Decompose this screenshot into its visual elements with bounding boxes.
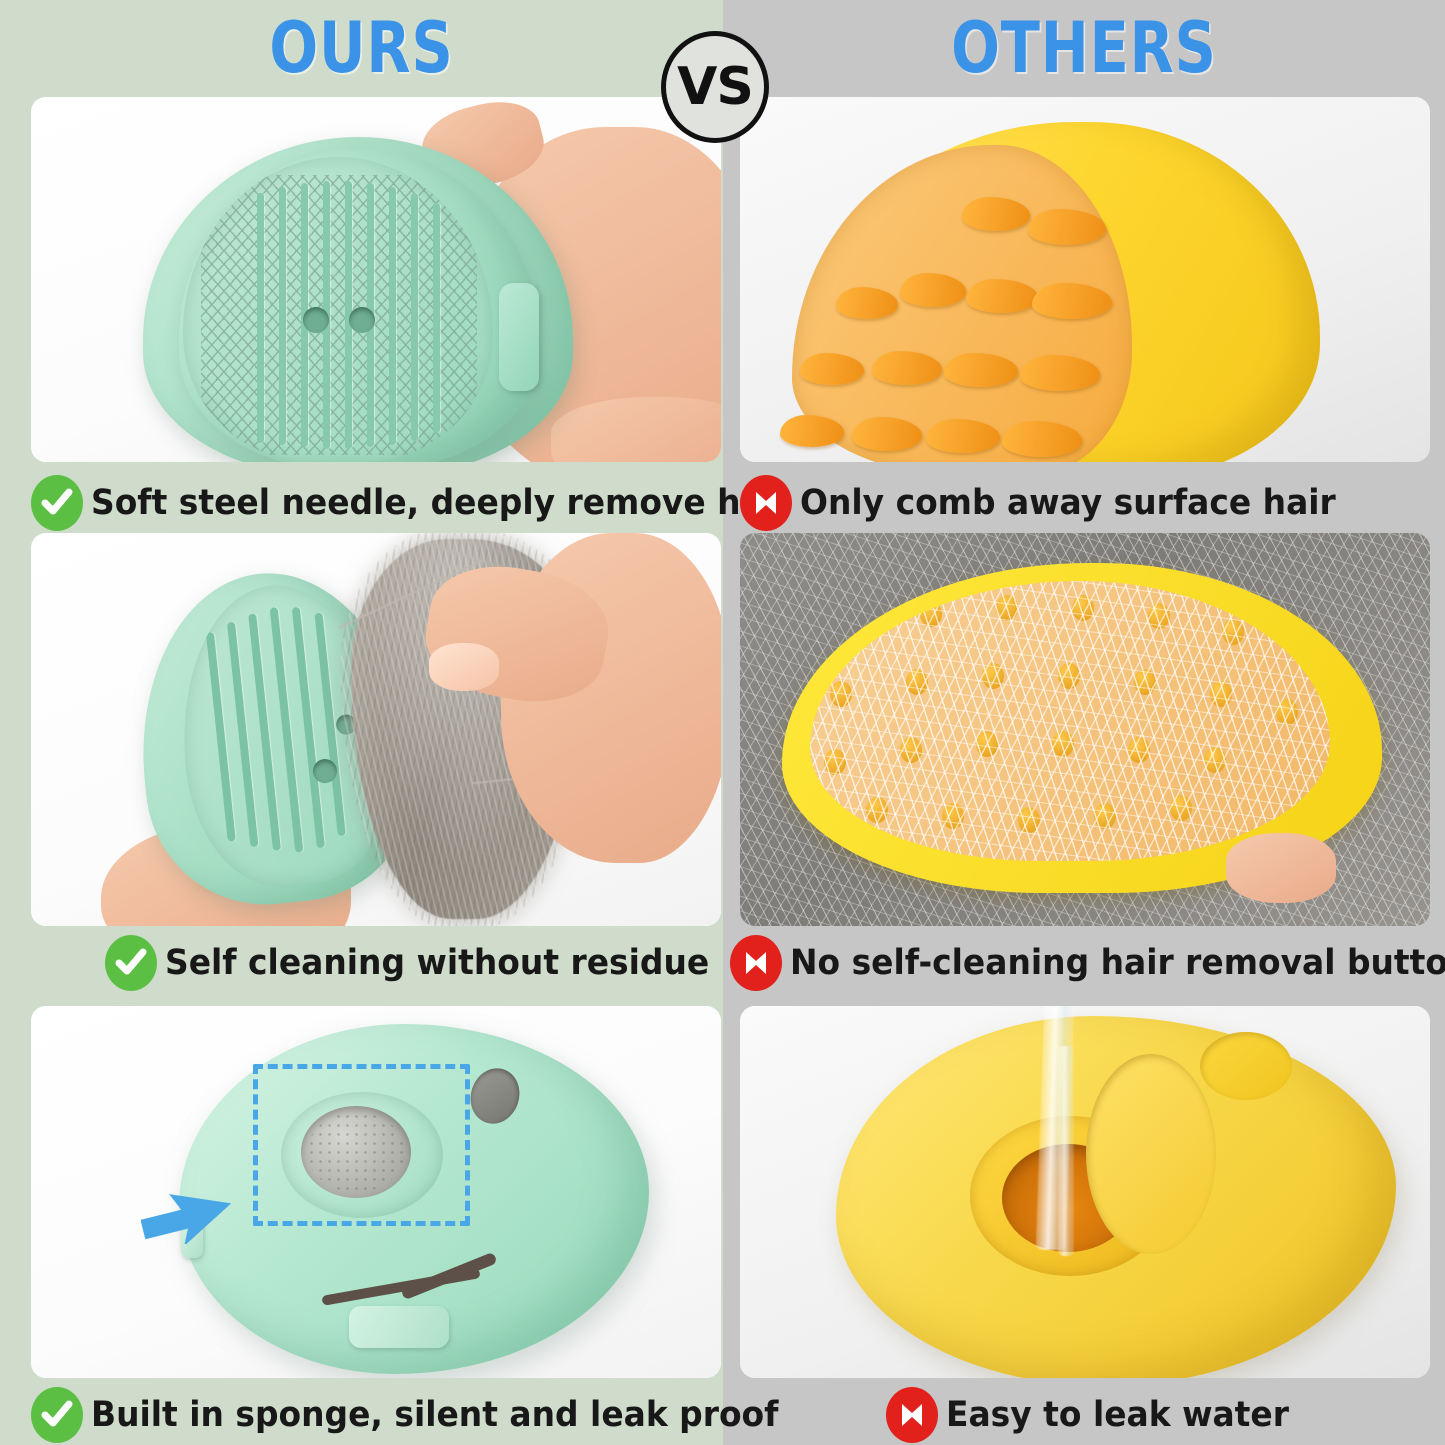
cross-icon xyxy=(740,475,792,531)
vs-badge: VS xyxy=(661,31,769,143)
caption-text: Soft steel needle, deeply remove hair xyxy=(91,483,790,523)
pad-inner-surface xyxy=(810,581,1330,861)
finger xyxy=(1226,833,1336,903)
side-button xyxy=(499,283,539,391)
fingernail xyxy=(429,643,499,691)
caption-text: Built in sponge, silent and leak proof xyxy=(91,1395,778,1435)
check-icon xyxy=(31,1387,83,1443)
others-caption-1: Only comb away surface hair xyxy=(740,474,1445,532)
needle-plate xyxy=(183,157,493,462)
pin-column xyxy=(389,187,396,445)
check-icon xyxy=(105,935,157,991)
ours-image-1 xyxy=(31,97,721,462)
secondary-cap xyxy=(1200,1032,1292,1100)
scene-hairy-pad xyxy=(740,533,1430,926)
latch xyxy=(349,1306,449,1348)
pin-column xyxy=(411,193,418,441)
scene-leak-water xyxy=(740,1006,1430,1378)
ours-image-2 xyxy=(31,533,721,926)
others-header: OTHERS xyxy=(788,8,1380,88)
cross-icon xyxy=(886,1387,938,1443)
others-caption-3: Easy to leak water xyxy=(740,1386,1445,1444)
caption-text: Easy to leak water xyxy=(946,1395,1289,1435)
pin-column xyxy=(257,193,264,443)
others-image-2 xyxy=(740,533,1430,926)
pin-column xyxy=(433,203,440,433)
scene-self-cleaning xyxy=(31,533,721,926)
water-stream xyxy=(1058,1046,1074,1256)
scene-mint-brush xyxy=(31,97,721,462)
ours-image-3 xyxy=(31,1006,721,1378)
scene-yellow-comb xyxy=(740,97,1430,462)
vent-hole xyxy=(303,307,329,333)
ours-caption-1: Soft steel needle, deeply remove hair xyxy=(31,474,731,532)
silicone-cap xyxy=(1086,1054,1216,1254)
ours-header: OURS xyxy=(65,8,658,88)
caption-text: No self-cleaning hair removal button xyxy=(790,943,1445,983)
cross-icon xyxy=(730,935,782,991)
vent-hole xyxy=(349,307,375,333)
ours-caption-2: Self cleaning without residue xyxy=(31,934,805,992)
pin-column xyxy=(279,187,286,445)
scene-built-in-sponge xyxy=(31,1006,721,1378)
pointer-arrow-icon xyxy=(141,1188,237,1244)
comparison-infographic: OURS OTHERS VS xyxy=(0,0,1445,1445)
others-caption-2: No self-cleaning hair removal button xyxy=(730,934,1435,992)
others-image-3 xyxy=(740,1006,1430,1378)
vs-label: VS xyxy=(677,57,753,117)
others-image-1 xyxy=(740,97,1430,462)
tangled-hair-overlay xyxy=(810,581,1330,861)
check-icon xyxy=(31,475,83,531)
ours-caption-3: Built in sponge, silent and leak proof xyxy=(31,1386,731,1444)
caption-text: Only comb away surface hair xyxy=(800,483,1336,523)
highlight-dashed-box xyxy=(253,1064,470,1226)
caption-text: Self cleaning without residue xyxy=(165,943,709,983)
